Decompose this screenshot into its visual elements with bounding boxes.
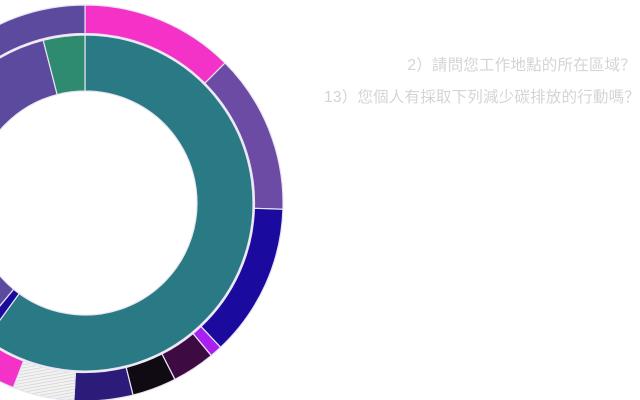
sunburst-donut-chart[interactable] xyxy=(0,0,640,400)
sunburst-segment[interactable] xyxy=(74,367,133,400)
chart-canvas: 2）請問您工作地點的所在區域？ 13）您個人有採取下列減少碳排放的行動嗎？ xyxy=(0,0,640,400)
